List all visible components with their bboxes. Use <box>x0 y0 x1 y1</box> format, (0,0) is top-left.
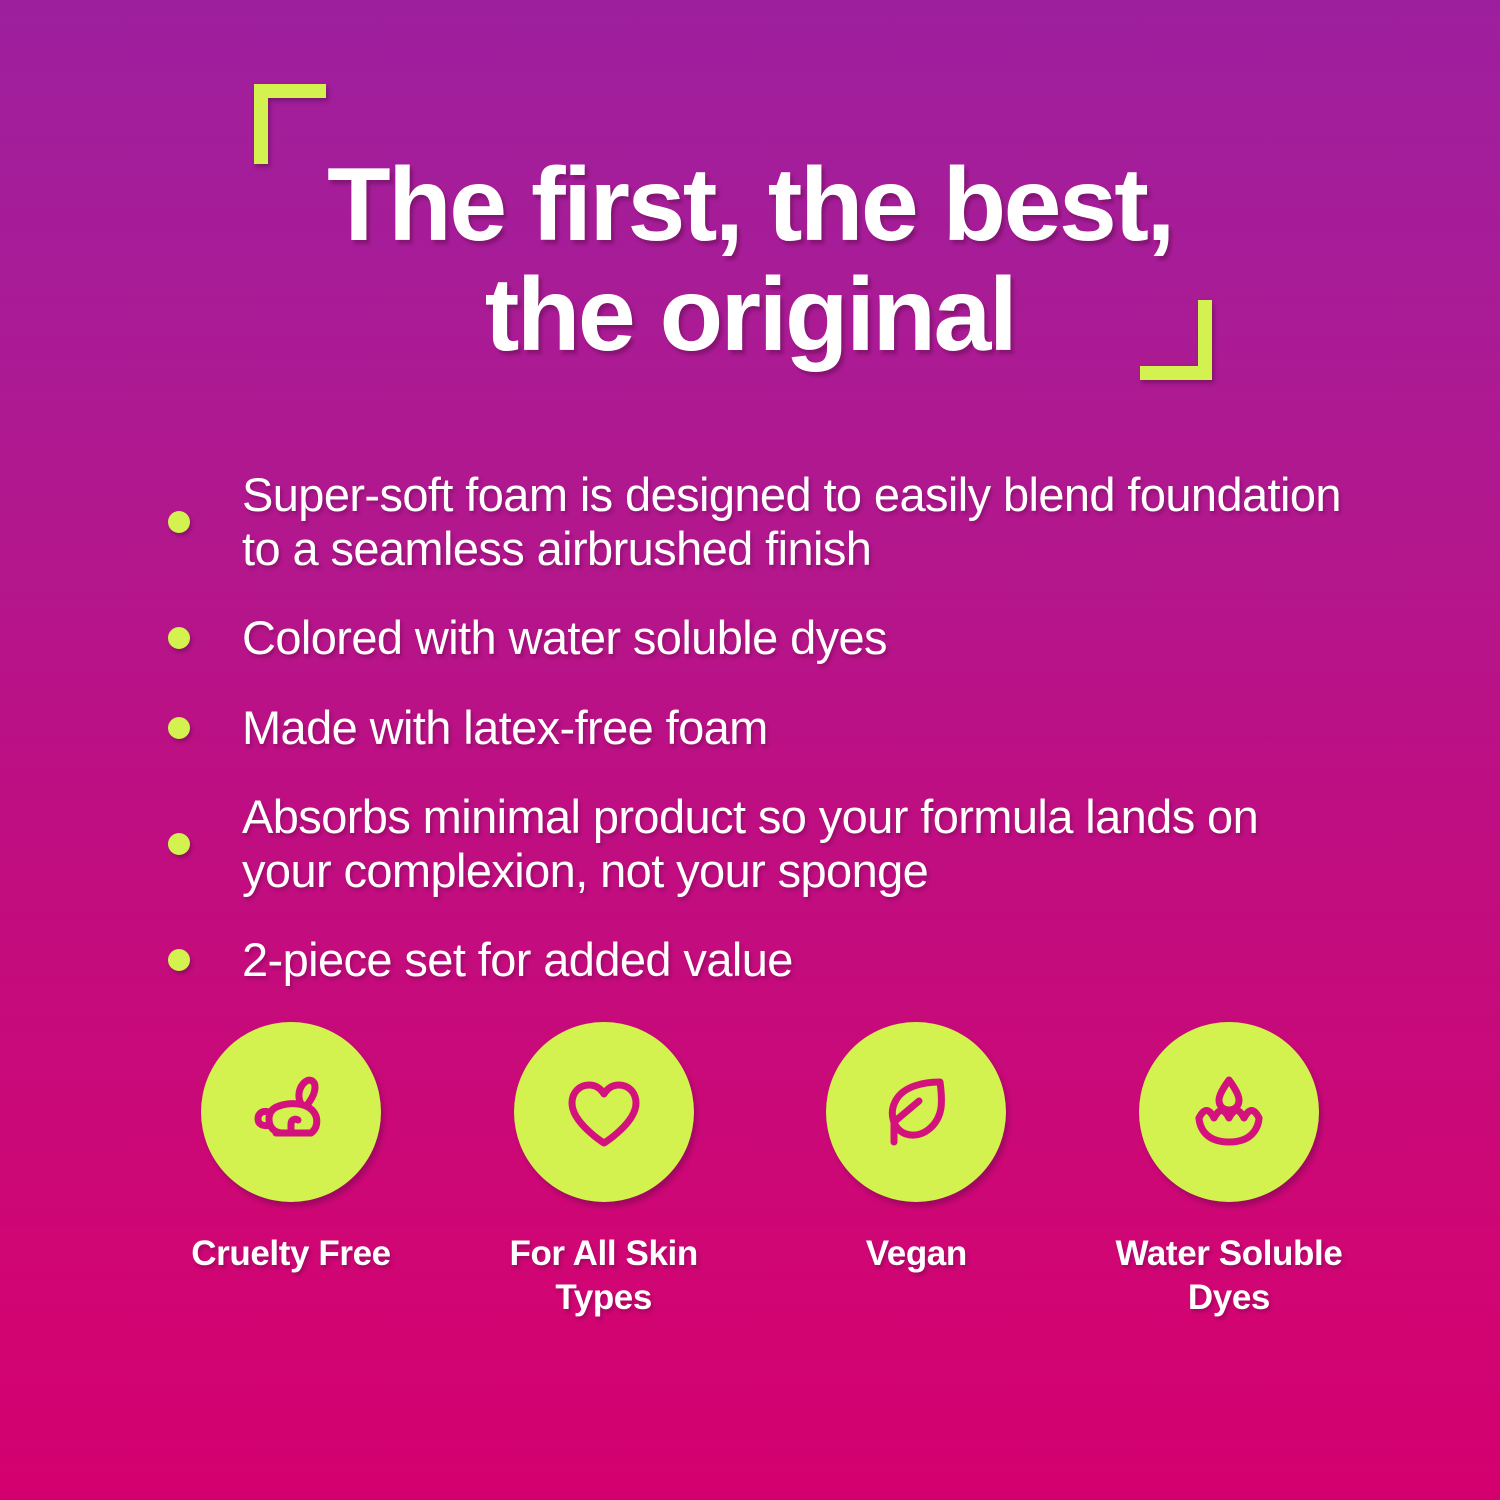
heart-icon <box>552 1060 656 1164</box>
bullet-dot-icon <box>168 511 190 533</box>
product-feature-poster: The first, the best, the original Super-… <box>0 0 1500 1500</box>
feature-text: Super-soft foam is designed to easily bl… <box>242 468 1348 575</box>
badge-circle <box>1139 1022 1319 1202</box>
feature-text: 2-piece set for added value <box>242 933 1348 987</box>
list-item: Super-soft foam is designed to easily bl… <box>168 468 1348 575</box>
badge-label: Vegan <box>791 1232 1041 1276</box>
water-drop-icon <box>1177 1060 1281 1164</box>
feature-text: Absorbs minimal product so your formula … <box>242 790 1348 897</box>
feature-text: Made with latex-free foam <box>242 701 1348 755</box>
headline-block: The first, the best, the original <box>0 72 1500 402</box>
list-item: Made with latex-free foam <box>168 701 1348 755</box>
badge-vegan: Vegan <box>785 1022 1047 1320</box>
badge-water-soluble-dyes: Water Soluble Dyes <box>1098 1022 1360 1320</box>
leaf-icon <box>864 1060 968 1164</box>
badge-row: Cruelty Free For All Skin Types <box>160 1022 1360 1320</box>
badge-label: Cruelty Free <box>166 1232 416 1276</box>
headline-line-1: The first, the best, <box>150 150 1350 260</box>
page-title: The first, the best, the original <box>150 150 1350 370</box>
badge-cruelty-free: Cruelty Free <box>160 1022 422 1320</box>
badge-for-all-skin-types: For All Skin Types <box>473 1022 735 1320</box>
bullet-dot-icon <box>168 833 190 855</box>
badge-circle <box>201 1022 381 1202</box>
bullet-dot-icon <box>168 627 190 649</box>
feature-text: Colored with water soluble dyes <box>242 611 1348 665</box>
rabbit-icon <box>239 1060 343 1164</box>
badge-label: Water Soluble Dyes <box>1104 1232 1354 1320</box>
bullet-dot-icon <box>168 717 190 739</box>
badge-label: For All Skin Types <box>479 1232 729 1320</box>
bullet-dot-icon <box>168 949 190 971</box>
list-item: Absorbs minimal product so your formula … <box>168 790 1348 897</box>
badge-circle <box>514 1022 694 1202</box>
badge-circle <box>826 1022 1006 1202</box>
list-item: 2-piece set for added value <box>168 933 1348 987</box>
feature-list: Super-soft foam is designed to easily bl… <box>168 468 1348 1023</box>
list-item: Colored with water soluble dyes <box>168 611 1348 665</box>
headline-line-2: the original <box>150 260 1350 370</box>
